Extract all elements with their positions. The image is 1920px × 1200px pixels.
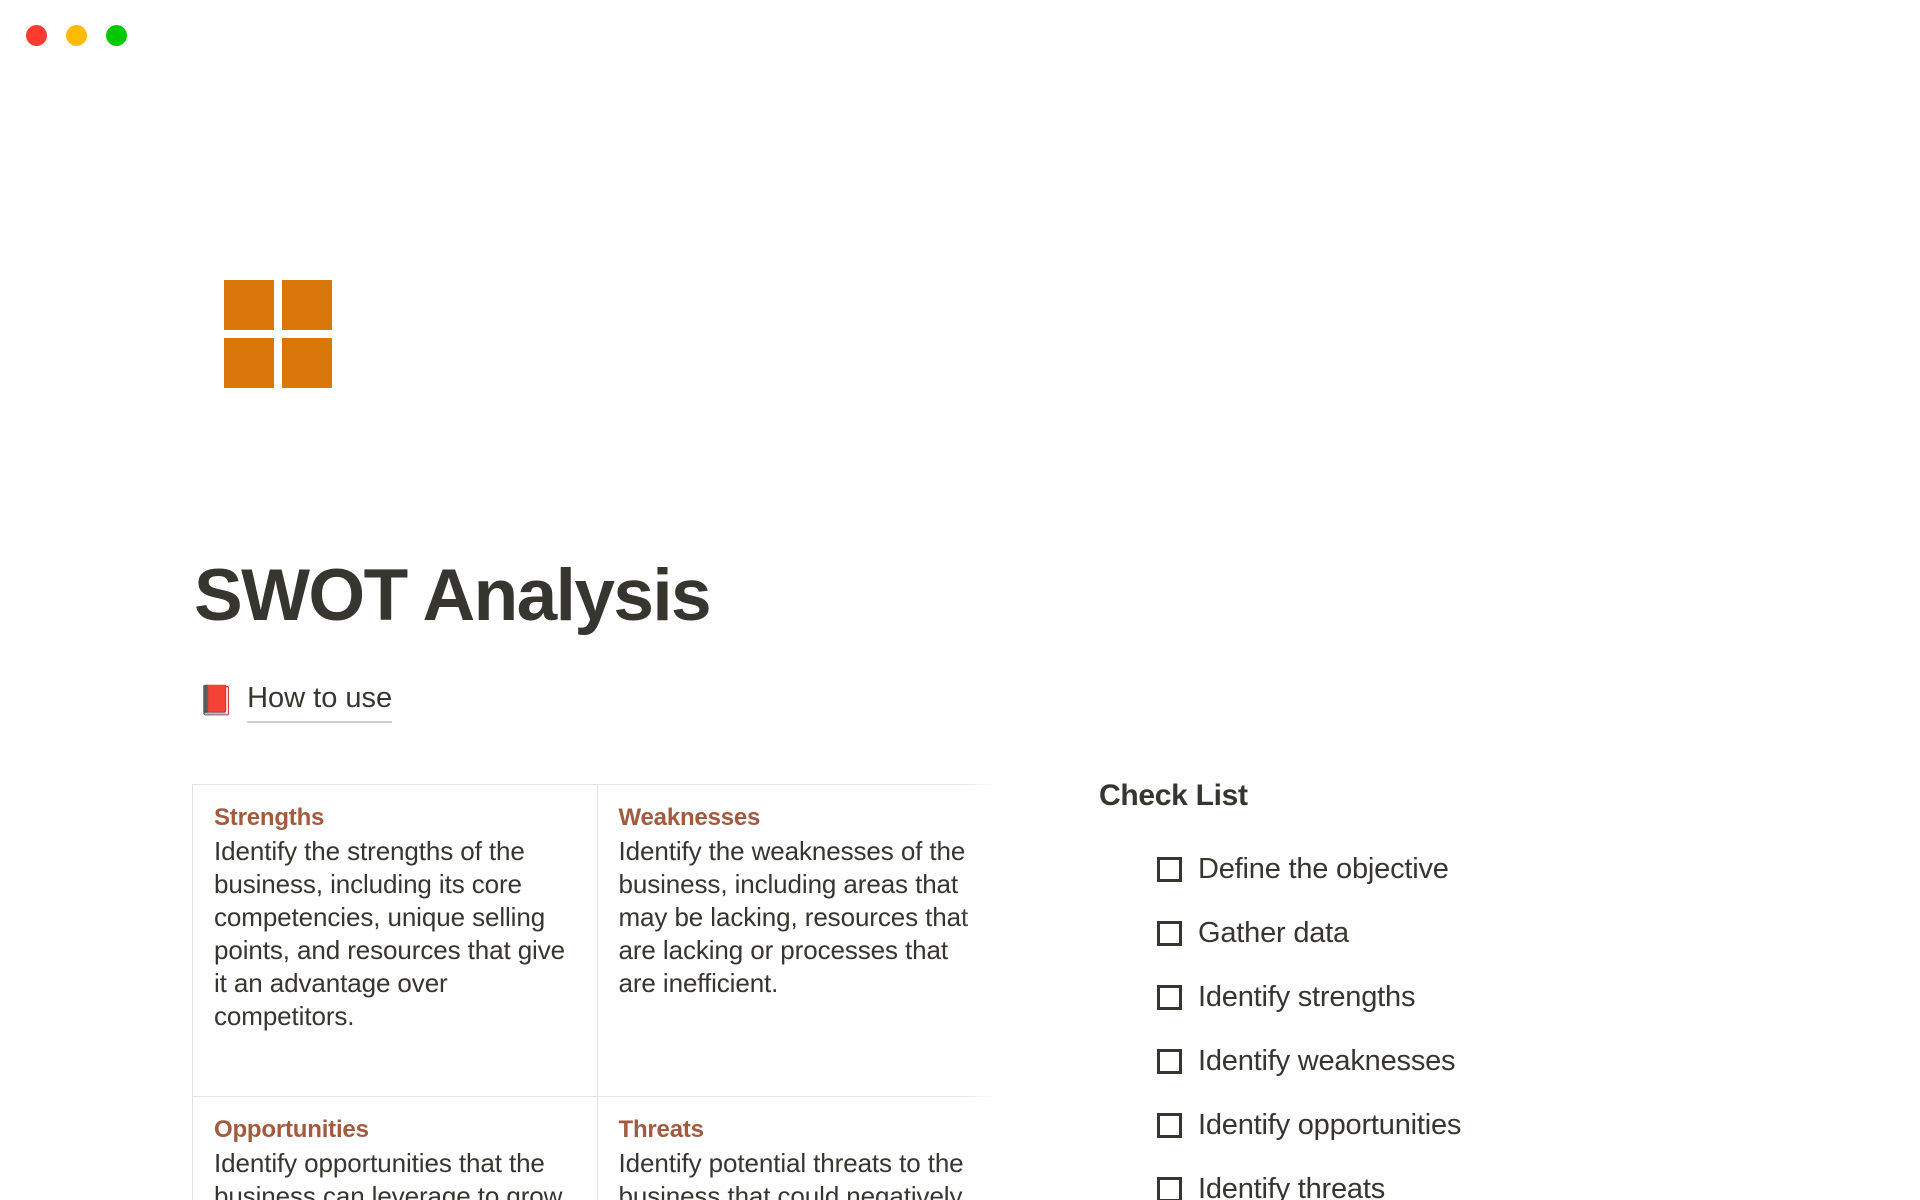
- swot-matrix-table: Strengths Identify the strengths of the …: [192, 784, 1002, 1200]
- table-row: Strengths Identify the strengths of the …: [193, 785, 1002, 1097]
- check-list-item-label: Identify opportunities: [1198, 1108, 1461, 1143]
- how-to-use-label: How to use: [247, 680, 392, 723]
- close-button[interactable]: [26, 25, 47, 46]
- four-squares-grid-icon[interactable]: [224, 280, 332, 388]
- swot-cell-opportunities[interactable]: Opportunities Identify opportunities tha…: [193, 1097, 598, 1200]
- table-row: Opportunities Identify opportunities tha…: [193, 1097, 1002, 1200]
- swot-heading-weaknesses: Weaknesses: [619, 802, 982, 834]
- check-list-items: Define the objective Gather data Identif…: [1099, 837, 1799, 1200]
- page-title[interactable]: SWOT Analysis: [194, 558, 710, 635]
- swot-body-strengths: Identify the strengths of the business, …: [214, 835, 577, 1033]
- checkbox-icon[interactable]: [1157, 985, 1182, 1010]
- swot-heading-opportunities: Opportunities: [214, 1114, 577, 1146]
- checkbox-icon[interactable]: [1157, 921, 1182, 946]
- swot-heading-threats: Threats: [619, 1114, 982, 1146]
- zoom-button[interactable]: [106, 25, 127, 46]
- minimize-button[interactable]: [66, 25, 87, 46]
- check-list-item-label: Identify threats: [1198, 1172, 1385, 1200]
- table-right-edge-clip: [1002, 772, 1082, 1200]
- swot-cell-strengths[interactable]: Strengths Identify the strengths of the …: [193, 785, 598, 1097]
- checkbox-icon[interactable]: [1157, 857, 1182, 882]
- swot-body-weaknesses: Identify the weaknesses of the business,…: [619, 835, 982, 1000]
- logo-square-bottom-right: [282, 338, 332, 388]
- check-list-item-label: Identify strengths: [1198, 980, 1415, 1015]
- checkbox-icon[interactable]: [1157, 1049, 1182, 1074]
- list-item[interactable]: Define the objective: [1157, 837, 1799, 901]
- logo-square-bottom-left: [224, 338, 274, 388]
- list-item[interactable]: Identify weaknesses: [1157, 1029, 1799, 1093]
- swot-cell-threats[interactable]: Threats Identify potential threats to th…: [598, 1097, 1003, 1200]
- window-titlebar: [0, 0, 1920, 72]
- swot-body-opportunities: Identify opportunities that the business…: [214, 1147, 577, 1200]
- document-canvas: SWOT Analysis 📕 How to use Strengths Ide…: [0, 72, 1920, 1200]
- swot-cell-weaknesses[interactable]: Weaknesses Identify the weaknesses of th…: [598, 785, 1003, 1097]
- checkbox-icon[interactable]: [1157, 1113, 1182, 1138]
- checkbox-icon[interactable]: [1157, 1177, 1182, 1200]
- swot-heading-strengths: Strengths: [214, 802, 577, 834]
- check-list-item-label: Gather data: [1198, 916, 1349, 951]
- check-list-item-label: Define the objective: [1198, 852, 1449, 887]
- check-list-title: Check List: [1099, 778, 1799, 814]
- swot-body-threats: Identify potential threats to the busine…: [619, 1147, 982, 1200]
- list-item[interactable]: Identify threats: [1157, 1157, 1799, 1200]
- list-item[interactable]: Identify strengths: [1157, 965, 1799, 1029]
- traffic-lights: [26, 25, 127, 46]
- check-list-item-label: Identify weaknesses: [1198, 1044, 1455, 1079]
- logo-square-top-right: [282, 280, 332, 330]
- list-item[interactable]: Gather data: [1157, 901, 1799, 965]
- closed-book-emoji: 📕: [198, 687, 234, 716]
- logo-square-top-left: [224, 280, 274, 330]
- how-to-use-link[interactable]: 📕 How to use: [198, 680, 392, 723]
- check-list-panel: Check List Define the objective Gather d…: [1099, 778, 1799, 1200]
- list-item[interactable]: Identify opportunities: [1157, 1093, 1799, 1157]
